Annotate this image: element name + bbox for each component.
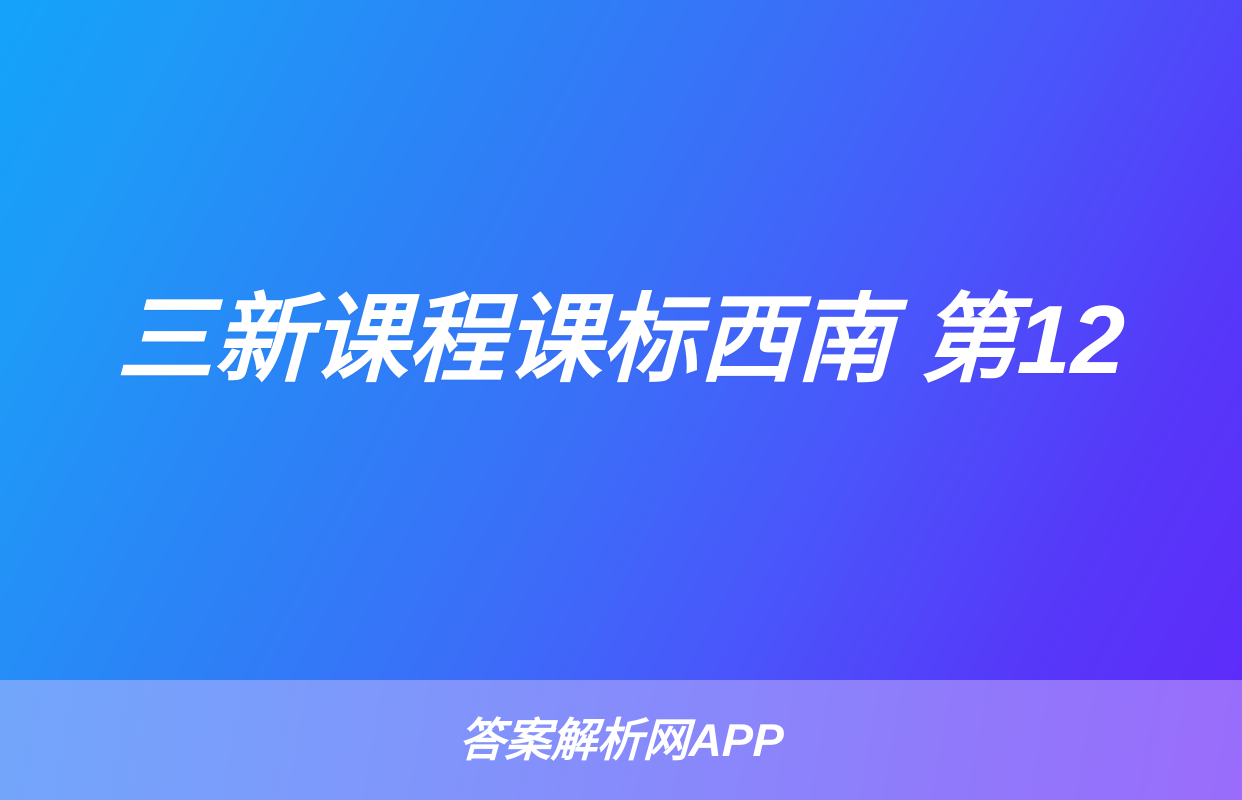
hero-section: 2025-2026 学英语报 高 三新课程课标西南 第12 期答案 <box>0 0 1242 680</box>
answer-banner: 2025-2026 学英语报 高 三新课程课标西南 第12 期答案 答案解析网A… <box>0 0 1242 800</box>
title-line-2: 三新课程课标西南 第12 <box>25 271 1217 409</box>
footer-band: 答案解析网APP <box>0 680 1242 800</box>
app-brand-label: 答案解析网APP <box>458 717 784 763</box>
